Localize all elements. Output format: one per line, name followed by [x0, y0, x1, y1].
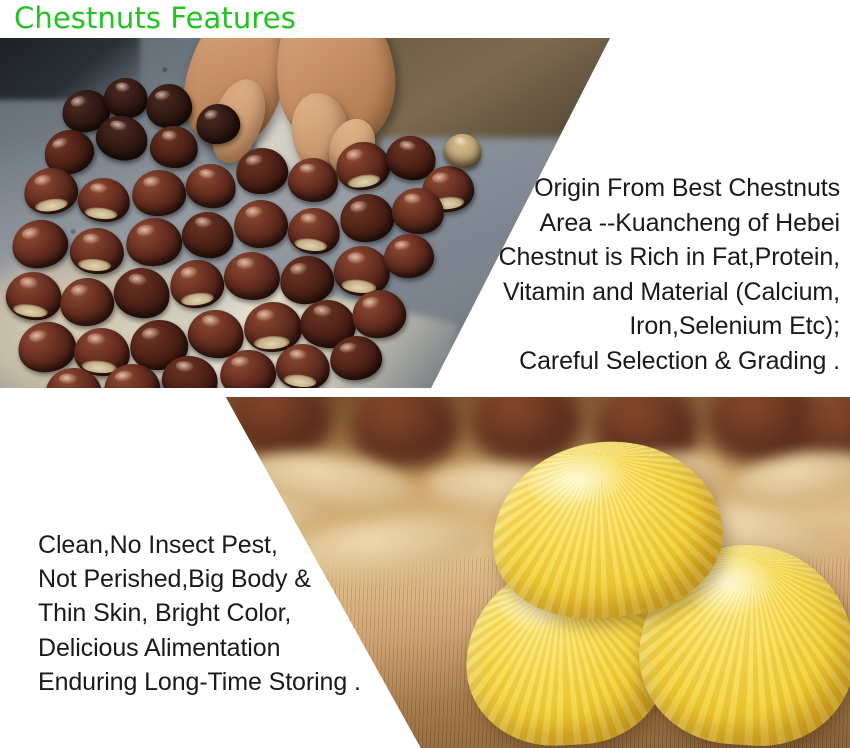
top-text-line: Iron,Selenium Etc); [440, 309, 840, 344]
page-title: Chestnuts Features [14, 1, 296, 35]
bottom-text-line: Clean,No Insect Pest, [38, 528, 361, 562]
bottom-feature-text: Clean,No Insect Pest, Not Perished,Big B… [38, 528, 361, 699]
chestnut-scar [84, 206, 117, 221]
top-text-line: Area --Kuancheng of Hebei [440, 206, 840, 241]
top-text-line: Chestnut is Rich in Fat,Protein, [440, 240, 840, 275]
top-text-line: Origin From Best Chestnuts [440, 171, 840, 206]
chestnut-scar [34, 197, 69, 213]
bottom-text-line: Not Perished,Big Body & [38, 562, 361, 596]
bottom-text-line: Thin Skin, Bright Color, [38, 596, 361, 630]
background-chestnut [112, 396, 208, 464]
top-text-line: Careful Selection & Grading . [440, 344, 840, 379]
chestnut-scar [346, 172, 381, 190]
chestnut-scar [77, 258, 111, 272]
top-feature-text: Origin From Best Chestnuts Area --Kuanch… [440, 171, 840, 378]
chestnut-scar [254, 335, 291, 350]
chestnuts-features-banner: Chestnuts Features [0, 0, 850, 748]
bottom-text-line: Delicious Alimentation [38, 631, 361, 665]
chestnut-scar [283, 373, 318, 388]
chestnut-scar [294, 237, 327, 253]
peeled-chestnut-top [483, 430, 730, 628]
panel-divider [0, 388, 850, 397]
bottom-text-line: Enduring Long-Time Storing . [38, 665, 361, 699]
background-chestnut [10, 396, 102, 450]
chestnut-scar [180, 291, 215, 307]
background-chestnut-slice [18, 449, 172, 513]
top-text-line: Vitamin and Material (Calcium, [440, 275, 840, 310]
